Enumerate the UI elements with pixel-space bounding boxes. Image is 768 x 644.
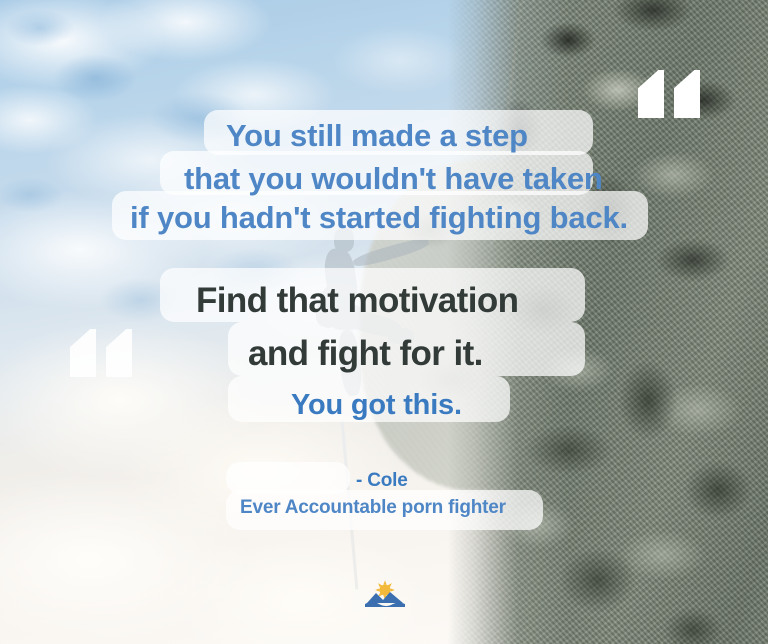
quote-line-3: if you hadn't started fighting back. <box>130 200 628 236</box>
quote-poster: You still made a step that you wouldn't … <box>0 0 768 644</box>
quote-line-2: that you wouldn't have taken <box>184 161 603 197</box>
quote-mark-top-right-icon <box>638 70 700 118</box>
attribution-organization: Ever Accountable porn fighter <box>240 497 506 519</box>
quote-line-4: Find that motivation <box>196 281 518 321</box>
logo-svg <box>364 578 406 608</box>
climber-upper-arm <box>352 236 431 270</box>
quote-mark-bottom-left-icon <box>70 329 132 377</box>
quote-line-6: You got this. <box>291 389 462 422</box>
quote-line-5: and fight for it. <box>248 334 483 374</box>
attribution-author: - Cole <box>356 470 408 492</box>
quote-line-1: You still made a step <box>226 118 528 154</box>
sun-over-mountains-logo <box>364 578 406 608</box>
